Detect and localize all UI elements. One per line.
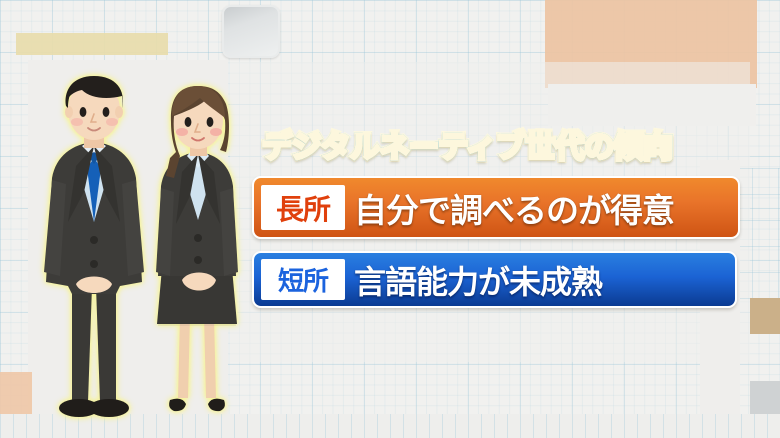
strength-row: 長所 自分で調べるのが得意 (252, 176, 740, 239)
deco-bar-tan-top-left (16, 33, 168, 55)
text-block: デジタルネーティブ世代の傾向 デジタルネーティブ世代の傾向 長所 自分で調べるの… (252, 132, 747, 320)
headline-wrap: デジタルネーティブ世代の傾向 デジタルネーティブ世代の傾向 (252, 132, 747, 176)
weakness-text: 言語能力が未成熟 (354, 257, 602, 303)
deco-silver-rounded-square (222, 5, 280, 58)
businessman-figure (32, 72, 156, 438)
page-title: デジタルネーティブ世代の傾向 (262, 132, 673, 164)
weakness-row: 短所 言語能力が未成熟 (252, 251, 737, 308)
people-illustration (30, 72, 240, 438)
strength-tag: 長所 (261, 185, 345, 230)
strength-text: 自分で調べるのが得意 (354, 184, 674, 232)
weakness-tag: 短所 (261, 259, 345, 300)
businesswoman-figure (140, 80, 256, 438)
deco-square-tan-right (750, 298, 780, 334)
graphic-canvas: デジタルネーティブ世代の傾向 デジタルネーティブ世代の傾向 長所 自分で調べるの… (0, 0, 780, 438)
